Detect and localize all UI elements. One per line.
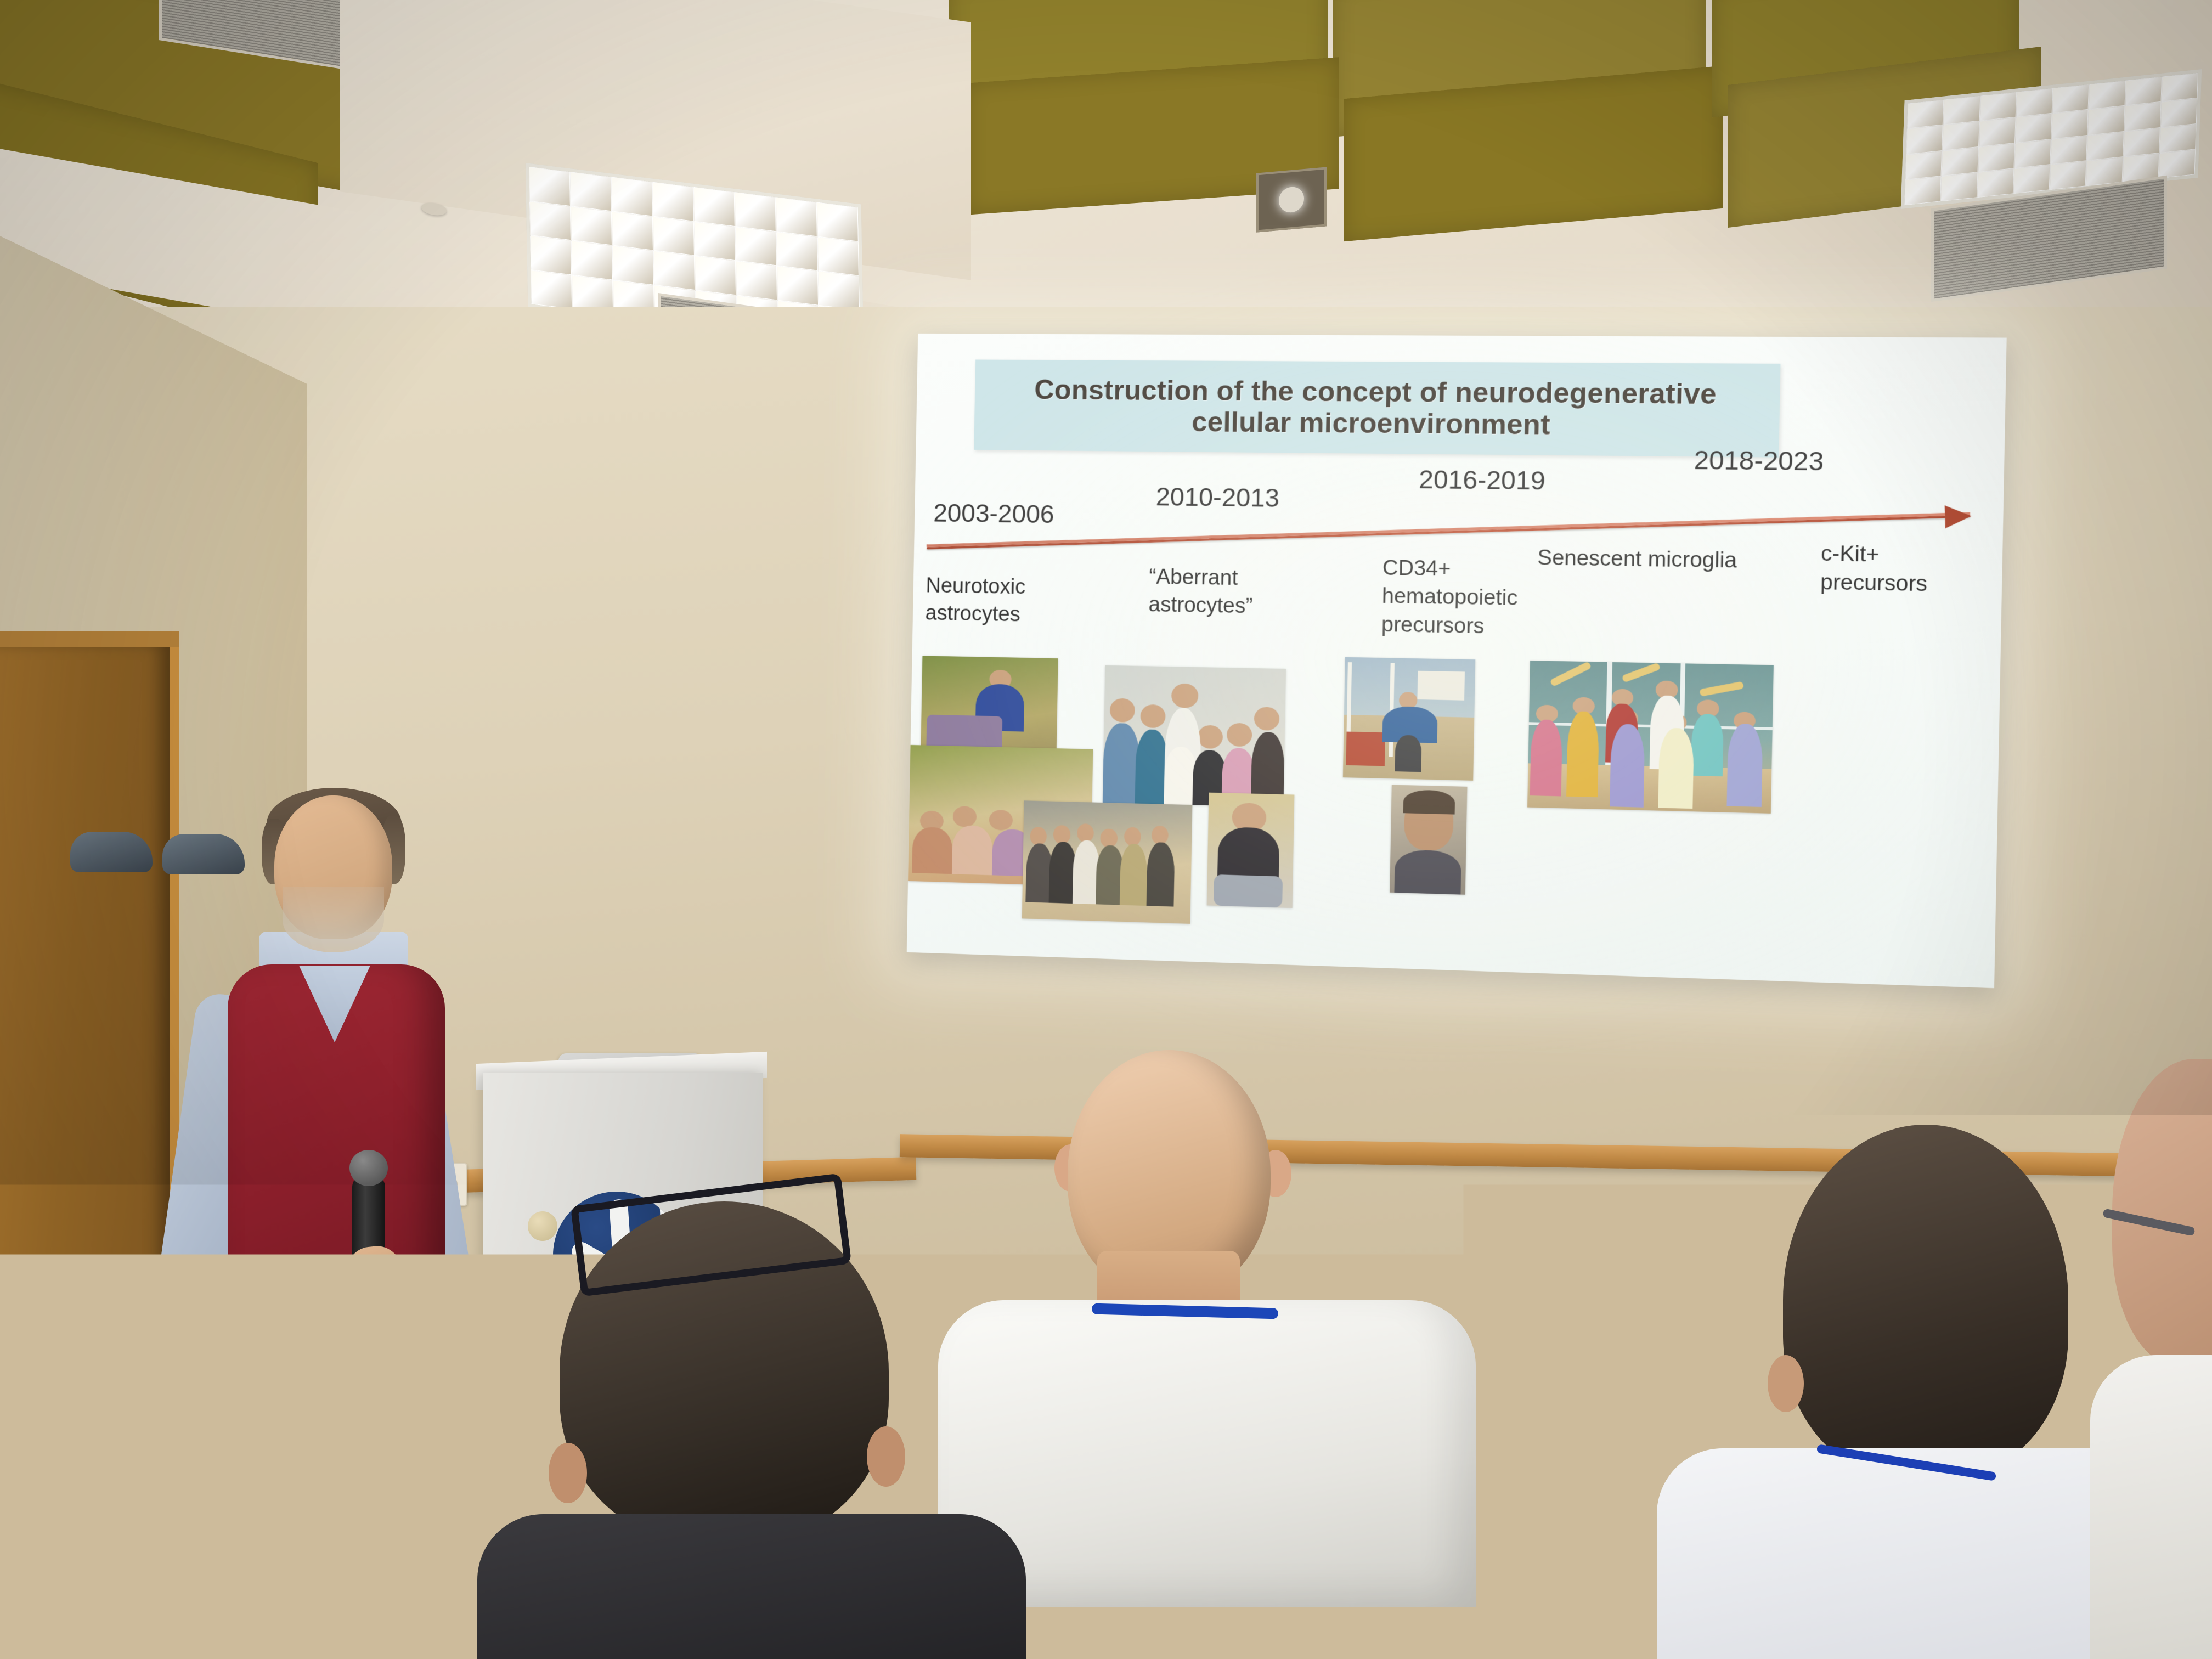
wall-power-socket[interactable]	[1701, 1372, 1749, 1420]
speaker-right-shoe	[162, 834, 245, 874]
presenting-speaker	[165, 790, 516, 1659]
lab-group-staircase-photo	[1527, 661, 1774, 813]
door-frame-top	[0, 631, 179, 647]
speaker-left-shoe	[70, 832, 153, 872]
attendee-head	[2112, 1059, 2212, 1366]
beach-scaffold-photo	[1343, 657, 1475, 780]
portrait-headshot-photo	[1390, 785, 1468, 894]
attendee-far-right	[2052, 1059, 2212, 1659]
timeline-label-1: Neurotoxic astrocytes	[925, 572, 1025, 629]
steps-group-photo	[1022, 800, 1192, 924]
slide-title-banner: Construction of the concept of neurodege…	[974, 360, 1780, 458]
room-door[interactable]	[0, 642, 179, 1421]
presentation-slide: Construction of the concept of neurodege…	[907, 334, 2007, 988]
speaker-trousers	[241, 1372, 422, 1635]
timeline-year-3: 2016-2019	[1419, 464, 1546, 496]
attendee-shirt	[2090, 1355, 2212, 1659]
timeline-label-senescent-microglia: Senescent microglia	[1537, 544, 1737, 575]
audience-chair[interactable]	[889, 1558, 1470, 1659]
slide-title-line-1: Construction of the concept of neurodege…	[1034, 374, 1717, 410]
projection-screen: Construction of the concept of neurodege…	[907, 334, 2007, 988]
timeline-year-1: 2003-2006	[933, 498, 1054, 529]
cable-coil	[433, 1278, 499, 1372]
timeline-label-3: CD34+ hematopoietic precursors	[1381, 554, 1519, 641]
timeline-label-2: “Aberrant astrocytes”	[1148, 563, 1254, 620]
lecture-hall-photo: Construction of the concept of neurodege…	[0, 0, 2212, 1659]
timeline-label-4: c-Kit+ precursors	[1820, 540, 1928, 599]
ceiling-spotlight	[1256, 167, 1327, 232]
seated-person-photo	[1207, 793, 1295, 909]
slide-title-line-2: cellular microenvironment	[1192, 407, 1551, 441]
timeline-year-2: 2010-2013	[1155, 482, 1279, 513]
ceiling	[0, 0, 2212, 351]
speaker-beard	[283, 887, 384, 952]
timeline-year-4: 2018-2023	[1694, 444, 1824, 476]
lab-team-indoor-photo	[1103, 665, 1286, 808]
attendee-hair	[1783, 1125, 2068, 1476]
wall-power-socket[interactable]	[59, 1350, 102, 1392]
timeline-arrow-icon	[927, 515, 1970, 550]
bag-on-floor	[0, 1585, 109, 1659]
